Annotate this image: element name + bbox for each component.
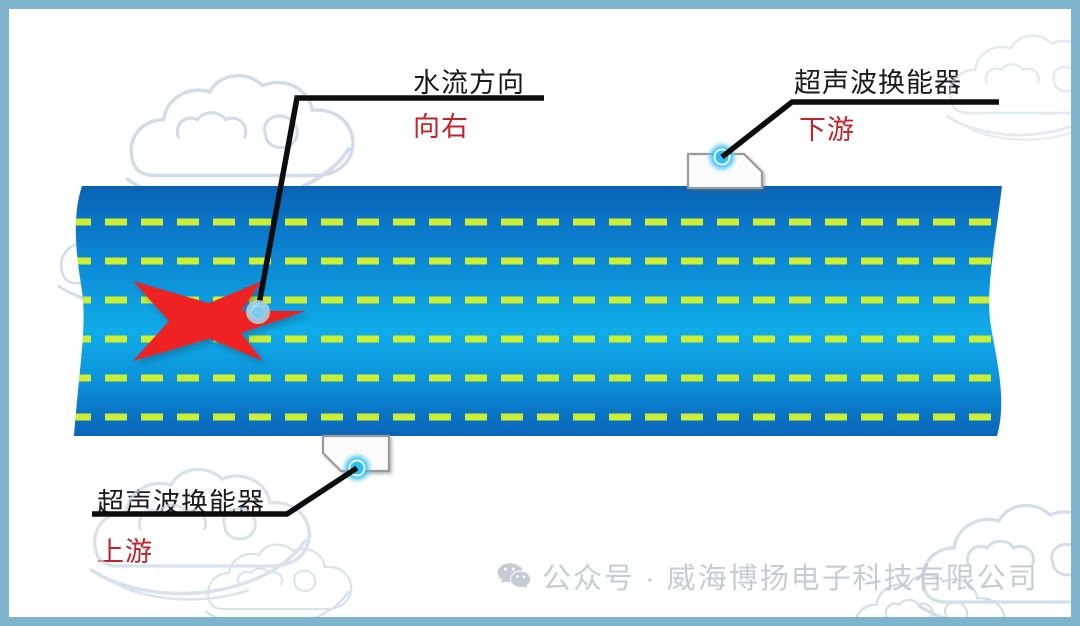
arrow-sensor-node bbox=[246, 300, 270, 324]
diagram-canvas: 水流方向 向右 超声波换能器 下游 超声波换能器 上游 bbox=[9, 9, 1071, 617]
wechat-icon bbox=[497, 562, 531, 590]
leader-line-upstream bbox=[92, 468, 357, 514]
diagram-screenshot: 水流方向 向右 超声波换能器 下游 超声波换能器 上游 公众号 · 威海博扬电子… bbox=[0, 0, 1080, 626]
watermark-text: 公众号 · 威海博扬电子科技有限公司 bbox=[542, 555, 1039, 597]
pipe-diagram-layer bbox=[9, 9, 1071, 617]
transducer-upstream[interactable] bbox=[323, 436, 389, 484]
transducer-downstream[interactable] bbox=[688, 141, 762, 188]
leader-line-downstream bbox=[722, 102, 999, 157]
watermark: 公众号 · 威海博扬电子科技有限公司 bbox=[497, 555, 1039, 597]
